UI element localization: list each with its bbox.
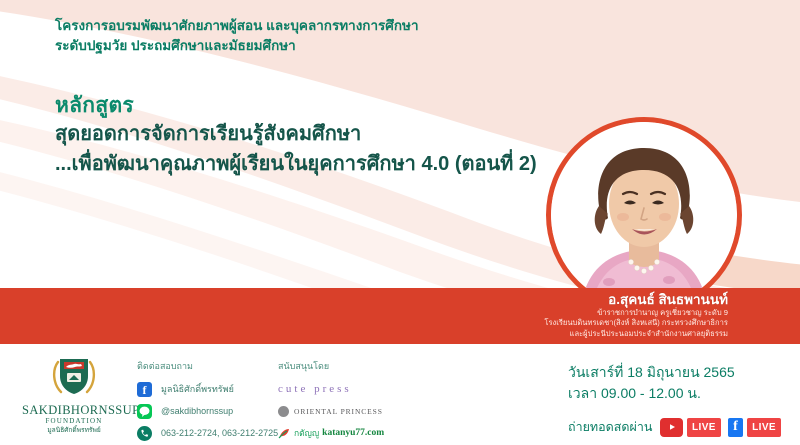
sponsor-oriental-princess: ORIENTAL PRINCESS (278, 401, 448, 421)
katanyu-leaf-icon (278, 427, 291, 440)
portrait-svg (551, 122, 737, 308)
course-kicker: หลักสูตร (55, 92, 555, 119)
course-title-line-2: ...เพื่อพัฒนาคุณภาพผู้เรียนในยุคการศึกษา… (55, 149, 555, 179)
speaker-credential-3: และผู้ประนีประนอมประจำสำนักงานศาลยุติธรร… (0, 329, 728, 339)
oriental-princess-logo: ORIENTAL PRINCESS (294, 407, 383, 416)
facebook-handle: มูลนิธิศักดิ์พรทรัพย์ (161, 382, 234, 396)
katanyu-url: katanyu77.com (322, 428, 384, 438)
sponsor-katanyu[interactable]: กตัญญู katanyu77.com (278, 423, 448, 443)
schedule-column: วันเสาร์ที่ 18 มิถุนายน 2565 เวลา 09.00 … (568, 362, 788, 437)
oriental-princess-icon (278, 406, 289, 417)
course-title-line-1: สุดยอดการจัดการเรียนรู้สังคมศึกษา (55, 119, 555, 149)
facebook-icon: f (137, 382, 152, 397)
speaker-name: อ.สุคนธ์ สินธพานนท์ (0, 288, 728, 308)
youtube-live-badge[interactable]: LIVE (687, 418, 721, 437)
foundation-name: SAKDIBHORNSSUP (22, 403, 126, 417)
line-handle: @sakdibhornssup (161, 406, 233, 416)
svg-text:f: f (143, 383, 148, 397)
portrait-ring (546, 117, 742, 313)
katanyu-thai: กตัญญู (294, 426, 319, 440)
sponsor-cute-press: cute press (278, 379, 448, 399)
event-date: วันเสาร์ที่ 18 มิถุนายน 2565 (568, 362, 788, 383)
youtube-icon[interactable] (660, 418, 683, 437)
sponsor-column: สนับสนุนโดย cute press ORIENTAL PRINCESS… (278, 360, 448, 445)
speaker-credential-2: โรงเรียนบดินทรเดชา(สิงห์ สิงหเสนี) กระทร… (0, 318, 728, 328)
foundation-logo: SAKDIBHORNSSUP FOUNDATION มูลนิธิศักดิ์พ… (22, 356, 126, 435)
header-line-1: โครงการอบรมพัฒนาศักยภาพผู้สอน และบุคลากร… (55, 16, 515, 36)
speaker-credential-1: ข้าราชการบำนาญ ครูเชี่ยวชาญ ระดับ 9 (0, 308, 728, 318)
contact-column: ติดต่อสอบถาม f มูลนิธิศักดิ์พรทรัพย์ @sa… (137, 360, 287, 445)
foundation-crest-icon (48, 356, 100, 396)
broadcast-row: ถ่ายทอดสดผ่าน LIVE f LIVE (568, 417, 788, 437)
seminar-banner: โครงการอบรมพัฒนาศักยภาพผู้สอน และบุคลากร… (0, 0, 800, 445)
contact-item-line[interactable]: @sakdibhornssup (137, 401, 287, 421)
cute-press-logo: cute press (278, 383, 352, 395)
header-line-2: ระดับปฐมวัย ประถมศึกษาและมัธยมศึกษา (55, 36, 515, 56)
portrait-artwork (551, 122, 737, 308)
header-block: โครงการอบรมพัฒนาศักยภาพผู้สอน และบุคลากร… (55, 16, 515, 56)
facebook-live-badge[interactable]: LIVE (747, 418, 781, 437)
contact-item-phone[interactable]: 063-212-2724, 063-212-2725 (137, 423, 287, 443)
contact-item-facebook[interactable]: f มูลนิธิศักดิ์พรทรัพย์ (137, 379, 287, 399)
contact-heading: ติดต่อสอบถาม (137, 360, 287, 373)
broadcast-label: ถ่ายทอดสดผ่าน (568, 417, 652, 437)
speaker-portrait (546, 117, 742, 313)
facebook-icon-badge[interactable]: f (728, 418, 743, 437)
event-time: เวลา 09.00 - 12.00 น. (568, 383, 788, 404)
foundation-name-thai: มูลนิธิศักดิ์พรทรัพย์ (22, 426, 126, 435)
foundation-sub: FOUNDATION (22, 417, 126, 426)
sponsor-heading: สนับสนุนโดย (278, 360, 448, 373)
phone-numbers: 063-212-2724, 063-212-2725 (161, 428, 278, 438)
title-block: หลักสูตร สุดยอดการจัดการเรียนรู้สังคมศึก… (55, 92, 555, 179)
line-icon (137, 404, 152, 419)
speaker-info: อ.สุคนธ์ สินธพานนท์ ข้าราชการบำนาญ ครูเช… (0, 288, 800, 344)
phone-icon (137, 426, 152, 441)
